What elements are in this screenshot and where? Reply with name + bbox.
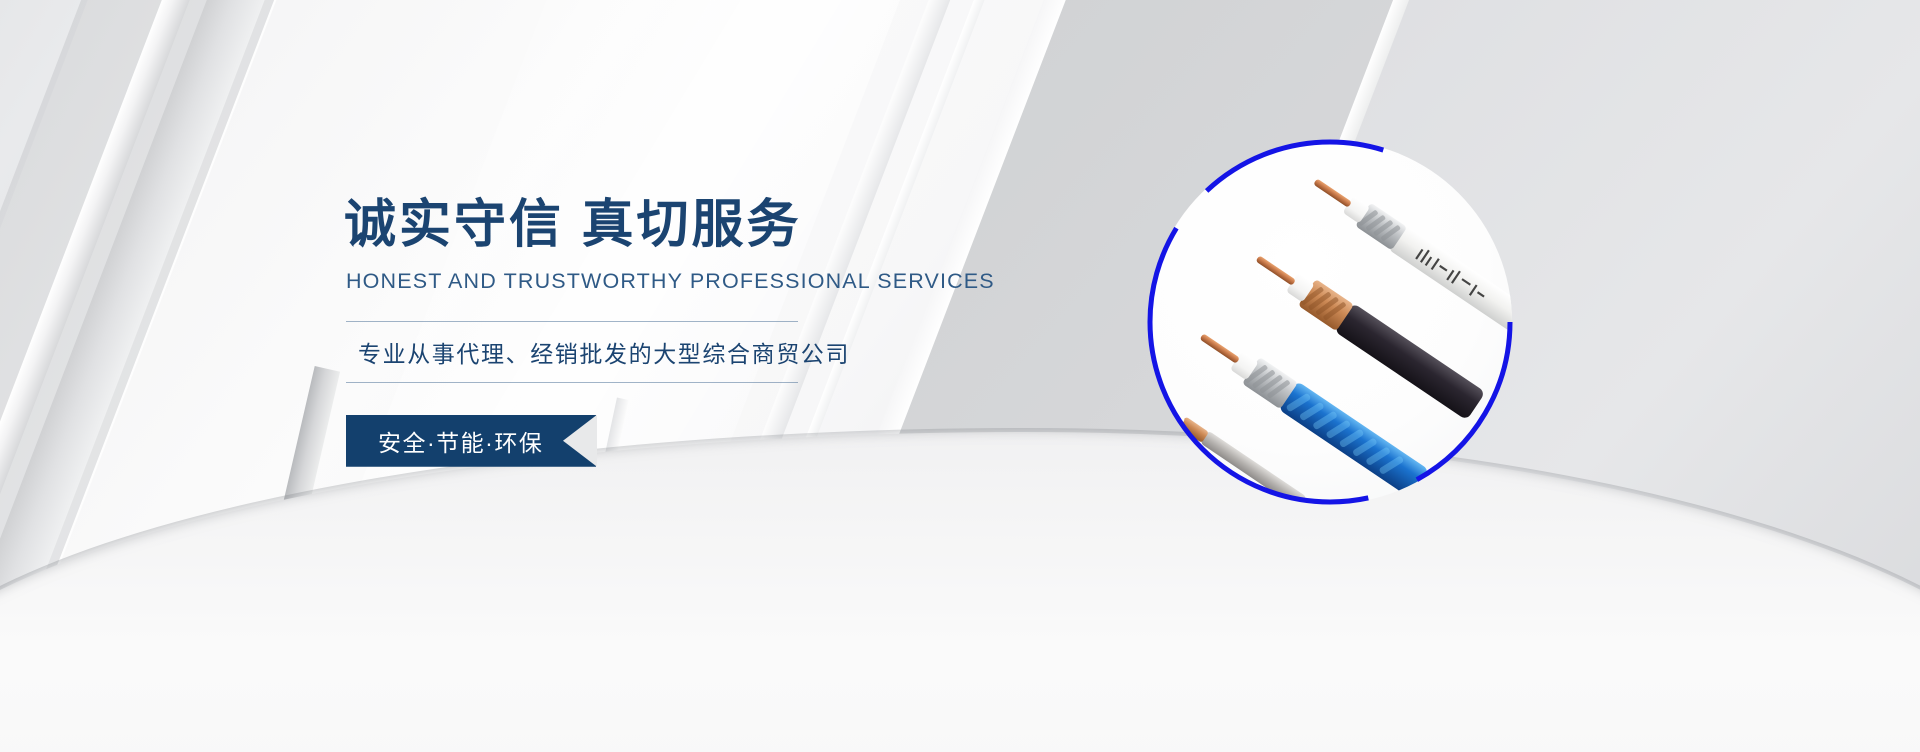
background-architecture	[0, 0, 1920, 752]
page-root: 诚实守信 真切服务 HONEST AND TRUSTWORTHY PROFESS…	[0, 0, 1920, 752]
product-circle	[1140, 132, 1520, 512]
hero-text-block: 诚实守信 真切服务 HONEST AND TRUSTWORTHY PROFESS…	[344, 196, 904, 467]
page-title: 诚实守信 真切服务	[344, 196, 904, 256]
feature-ribbon: 安全·节能·环保	[346, 415, 596, 467]
hero-banner: 诚实守信 真切服务 HONEST AND TRUSTWORTHY PROFESS…	[0, 0, 1920, 752]
ribbon-label: 安全·节能·环保	[346, 415, 596, 467]
divider-bottom	[346, 382, 798, 383]
tagline: 专业从事代理、经销批发的大型综合商贸公司	[344, 322, 904, 382]
subtitle-english: HONEST AND TRUSTWORTHY PROFESSIONAL SERV…	[346, 269, 904, 294]
circle-ring-decoration	[1140, 132, 1520, 512]
